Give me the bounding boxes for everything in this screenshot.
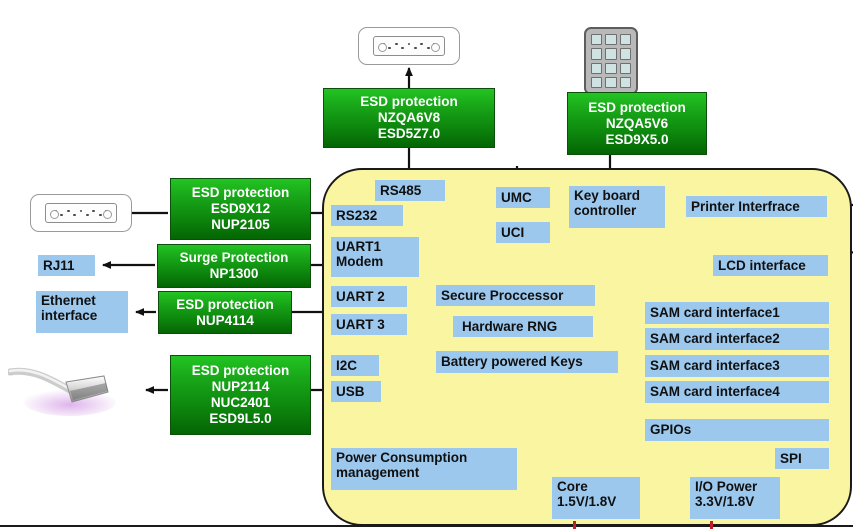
soc-block-i2c[interactable]: I2C [331, 355, 379, 376]
protection-part: NZQA5V6 [606, 116, 668, 132]
soc-block-lcd-interface[interactable]: LCD interface [713, 255, 828, 276]
protection-block-modem[interactable]: Surge Protection NP1300 [157, 244, 311, 288]
bottom-divider [0, 525, 853, 527]
protection-part: ESD9X12 [211, 201, 270, 217]
soc-block-rs232[interactable]: RS232 [331, 205, 403, 226]
soc-block-io-power[interactable]: I/O Power 3.3V/1.8V [690, 477, 780, 519]
protection-title: ESD protection [360, 94, 458, 110]
soc-block-printer-interface[interactable]: Printer Interfrace [686, 196, 827, 217]
soc-block-sam4[interactable]: SAM card interface4 [645, 381, 829, 403]
bottom-tick-mark [710, 521, 713, 529]
external-label-ethernet: Ethernet interface [36, 291, 128, 333]
soc-block-gpios[interactable]: GPIOs [645, 419, 829, 441]
soc-block-sam3[interactable]: SAM card interface3 [645, 355, 829, 377]
protection-block-rs485[interactable]: ESD protection NZQA6V8 ESD5Z7.0 [323, 88, 495, 148]
bottom-tick-mark [573, 521, 576, 529]
soc-block-usb[interactable]: USB [331, 381, 381, 402]
protection-block-rs232[interactable]: ESD protection ESD9X12 NUP2105 [170, 178, 311, 240]
protection-block-usb[interactable]: ESD protection NUP2114 NUC2401 ESD9L5.0 [170, 355, 311, 435]
protection-part: NUP4114 [196, 313, 254, 329]
protection-part: NZQA6V8 [378, 110, 440, 126]
soc-block-hardware-rng[interactable]: Hardware RNG [453, 316, 593, 337]
protection-block-ethernet[interactable]: ESD protection NUP4114 [158, 291, 292, 334]
protection-title: ESD protection [192, 185, 290, 201]
soc-block-uart2[interactable]: UART 2 [331, 286, 407, 307]
usb-cable-icon [8, 358, 118, 420]
protection-title: Surge Protection [180, 250, 289, 266]
protection-part: ESD9L5.0 [209, 411, 271, 427]
soc-block-power-consumption[interactable]: Power Consumption management [331, 448, 517, 490]
diagram-canvas: RS485 --> SoC --> RS232 --> UART1 Modem … [0, 0, 853, 529]
protection-title: ESD protection [176, 297, 274, 313]
protection-part: ESD9X5.0 [605, 132, 668, 148]
db9-connector-icon [358, 27, 460, 65]
soc-block-keyboard-controller[interactable]: Key board controller [569, 186, 665, 228]
protection-part: NUP2105 [211, 217, 270, 233]
db9-connector-icon [30, 194, 132, 232]
protection-part: ESD5Z7.0 [378, 126, 440, 142]
soc-block-secure-processor[interactable]: Secure Proccessor [436, 285, 595, 306]
soc-block-sam1[interactable]: SAM card interface1 [645, 302, 829, 324]
protection-part: NUP2114 [212, 379, 270, 395]
protection-part: NUC2401 [211, 395, 270, 411]
soc-block-uart1-modem[interactable]: UART1 Modem [331, 237, 419, 277]
protection-part: NP1300 [210, 266, 259, 282]
soc-block-rs485[interactable]: RS485 [375, 180, 445, 201]
soc-block-core-voltage[interactable]: Core 1.5V/1.8V [552, 477, 640, 519]
soc-block-spi[interactable]: SPI [775, 448, 829, 469]
soc-block-uci[interactable]: UCI [496, 222, 550, 243]
soc-block-uart3[interactable]: UART 3 [331, 314, 407, 335]
soc-block-umc[interactable]: UMC [496, 187, 550, 208]
soc-block-battery-powered-keys[interactable]: Battery powered Keys [436, 351, 618, 373]
protection-block-keypad[interactable]: ESD protection NZQA5V6 ESD9X5.0 [567, 92, 707, 155]
protection-title: ESD protection [192, 363, 290, 379]
external-label-rj11: RJ11 [38, 255, 95, 276]
keypad-icon [584, 27, 638, 95]
soc-block-sam2[interactable]: SAM card interface2 [645, 328, 829, 350]
protection-title: ESD protection [588, 100, 686, 116]
